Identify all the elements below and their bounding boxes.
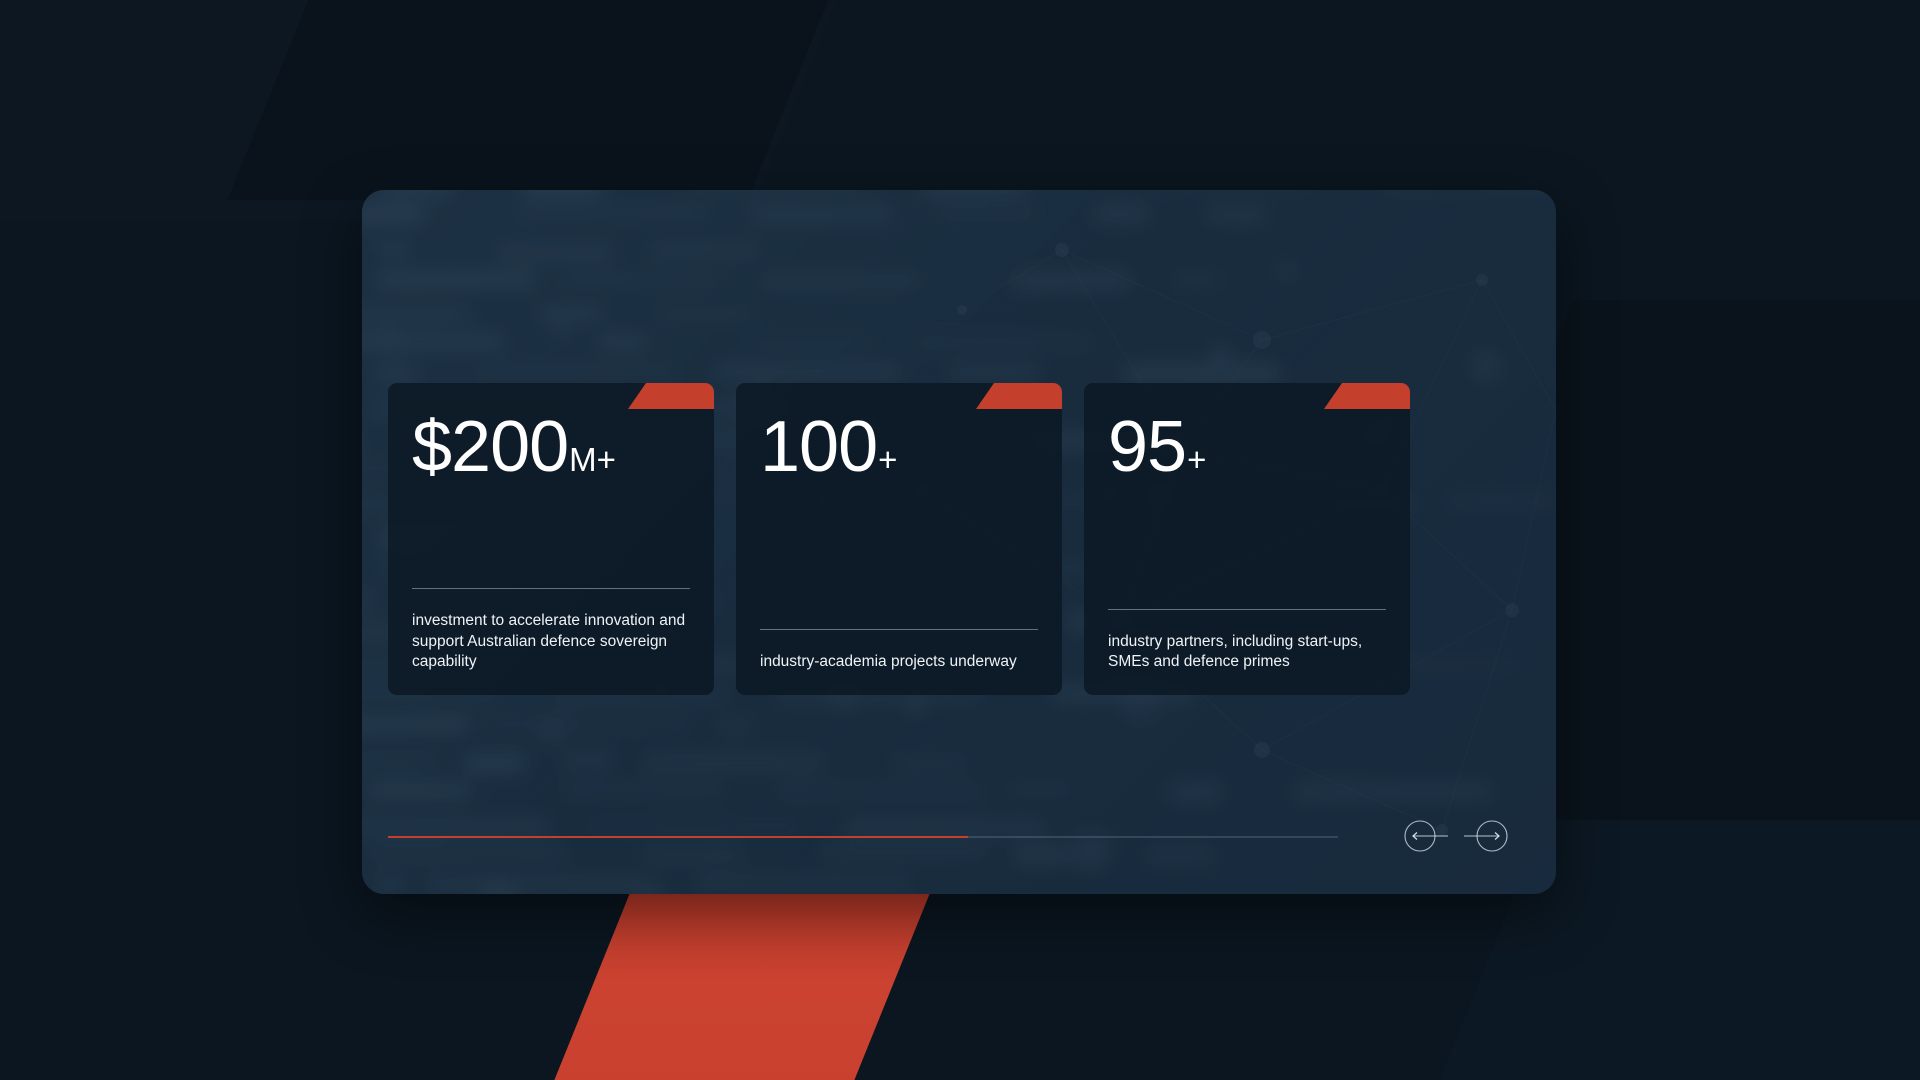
carousel-footer [362, 807, 1556, 867]
stat-value-group: 95+ [1108, 411, 1386, 483]
card-spacer [1108, 483, 1386, 609]
stat-value: 95 [1108, 411, 1186, 483]
card-spacer [412, 483, 690, 588]
stat-card[interactable]: $200M+ investment to accelerate innovati… [388, 383, 714, 695]
stat-description: investment to accelerate innovation and … [412, 611, 690, 673]
arrow-right-icon [1450, 818, 1510, 854]
stats-carousel-panel: $200M+ investment to accelerate innovati… [362, 190, 1556, 894]
stat-value: 100 [760, 411, 877, 483]
card-divider [412, 588, 690, 589]
card-corner-accent [628, 383, 714, 409]
carousel-prev-button[interactable] [1402, 818, 1438, 854]
stat-suffix: + [878, 443, 897, 476]
stat-suffix: M+ [569, 443, 616, 476]
stat-value-group: 100+ [760, 411, 1038, 483]
stat-card[interactable]: 100+ industry-academia projects underway [736, 383, 1062, 695]
stat-description: industry partners, including start-ups, … [1108, 632, 1386, 673]
card-corner-accent [1324, 383, 1410, 409]
stat-card[interactable]: 95+ industry partners, including start-u… [1084, 383, 1410, 695]
carousel-progress-fill [388, 836, 968, 838]
carousel-nav [1402, 818, 1486, 854]
stat-card-list: $200M+ investment to accelerate innovati… [388, 383, 1530, 695]
stat-suffix: + [1187, 443, 1206, 476]
card-spacer [760, 483, 1038, 629]
stat-description: industry-academia projects underway [760, 652, 1038, 673]
card-divider [760, 629, 1038, 630]
page-root: $200M+ investment to accelerate innovati… [0, 0, 1920, 1080]
carousel-progress-track[interactable] [388, 836, 1338, 838]
card-corner-accent [976, 383, 1062, 409]
background-red-banner [539, 878, 936, 1080]
carousel-next-button[interactable] [1450, 818, 1486, 854]
background-diagonal-top-left [0, 0, 853, 220]
card-divider [1108, 609, 1386, 610]
stat-value-group: $200M+ [412, 411, 690, 483]
background-diagonal-top-dark [227, 0, 852, 200]
stat-value: $200 [412, 411, 568, 483]
